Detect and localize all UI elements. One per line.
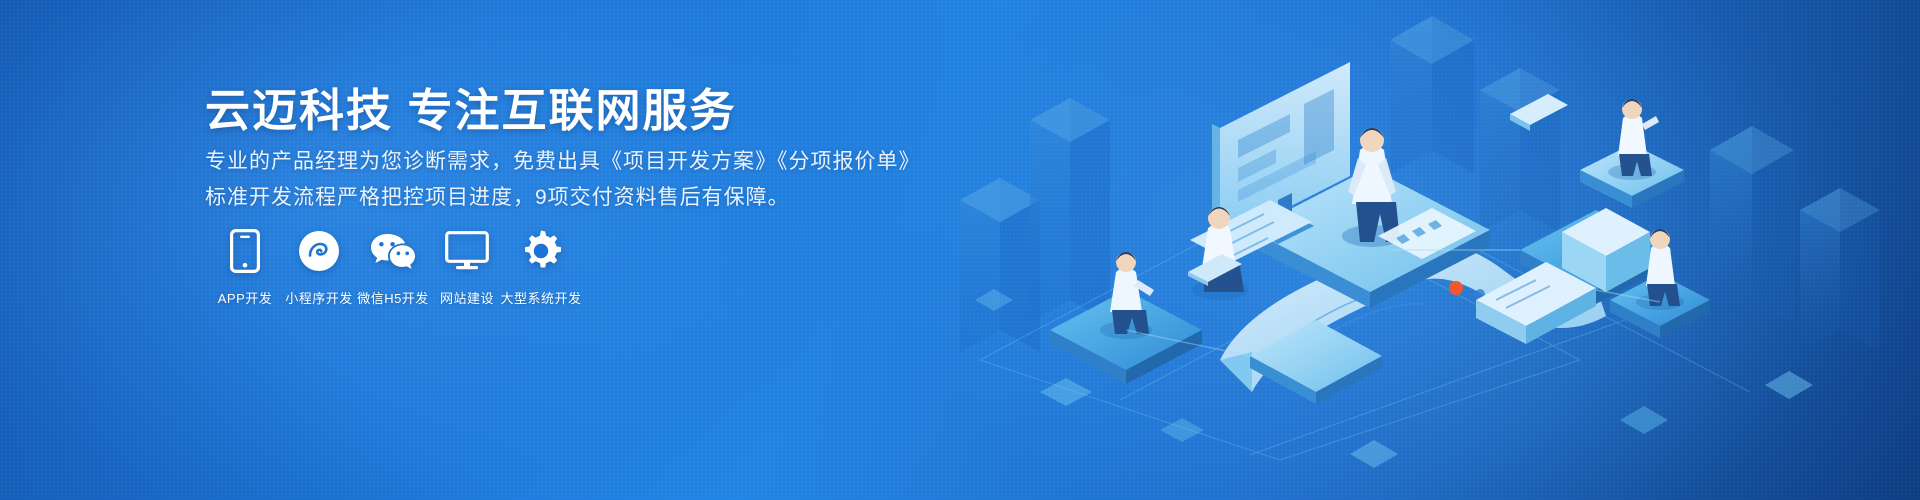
service-list: APP开发 小程序开发 — [208, 228, 578, 307]
service-label-miniprogram: 小程序开发 — [285, 288, 353, 307]
service-label-wechat: 微信H5开发 — [357, 288, 429, 307]
mobile-phone-icon — [230, 228, 260, 274]
monitor-icon — [445, 228, 489, 274]
hero-banner: 云迈科技 专注互联网服务 专业的产品经理为您诊断需求，免费出具《项目开发方案》《… — [0, 0, 1920, 500]
service-item-system[interactable]: 大型系统开发 — [504, 228, 578, 307]
text-content: 云迈科技 专注互联网服务 专业的产品经理为您诊断需求，免费出具《项目开发方案》《… — [200, 0, 960, 500]
background-columns — [960, 16, 1880, 352]
subtitle-line-2: 标准开发流程严格把控项目进度，9项交付资料售后有保障。 — [205, 181, 790, 211]
page-title: 云迈科技 专注互联网服务 — [205, 74, 737, 139]
service-item-app[interactable]: APP开发 — [208, 228, 282, 307]
mini-program-icon — [298, 228, 340, 274]
gear-icon — [519, 228, 563, 274]
service-label-app: APP开发 — [218, 288, 273, 307]
service-item-website[interactable]: 网站建设 — [430, 228, 504, 307]
service-label-system: 大型系统开发 — [501, 288, 582, 307]
subtitle-line-1: 专业的产品经理为您诊断需求，免费出具《项目开发方案》《分项报价单》 — [205, 145, 921, 175]
service-item-miniprogram[interactable]: 小程序开发 — [282, 228, 356, 307]
service-item-wechat[interactable]: 微信H5开发 — [356, 228, 430, 307]
person-right-upper — [1608, 99, 1659, 180]
illustration-container — [920, 0, 1920, 500]
wechat-icon — [369, 228, 417, 274]
service-label-website: 网站建设 — [440, 288, 494, 307]
isometric-team-dashboard-illustration — [920, 0, 1920, 500]
